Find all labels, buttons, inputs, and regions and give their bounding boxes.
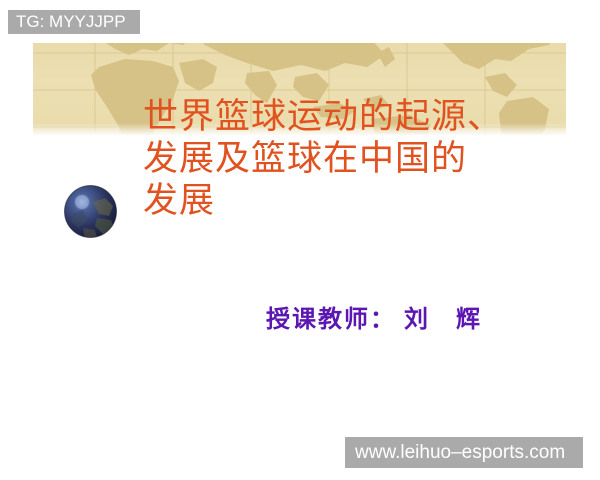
title-line-2: 发展及篮球在中国的 [143, 138, 543, 180]
presentation-slide: 世界篮球运动的起源、 发展及篮球在中国的 发展 授课教师： 刘 辉 TG: MY… [0, 0, 600, 480]
page-title: 世界篮球运动的起源、 发展及篮球在中国的 发展 [143, 96, 543, 222]
title-line-3: 发展 [143, 180, 543, 222]
globe-icon [63, 184, 118, 239]
watermark-bottom-url: www.leihuo–esports.com [345, 437, 583, 468]
presenter-name: 授课教师： 刘 辉 [266, 299, 482, 334]
watermark-top-label: TG: MYYJJPP [8, 10, 140, 34]
title-line-1: 世界篮球运动的起源、 [143, 96, 543, 138]
